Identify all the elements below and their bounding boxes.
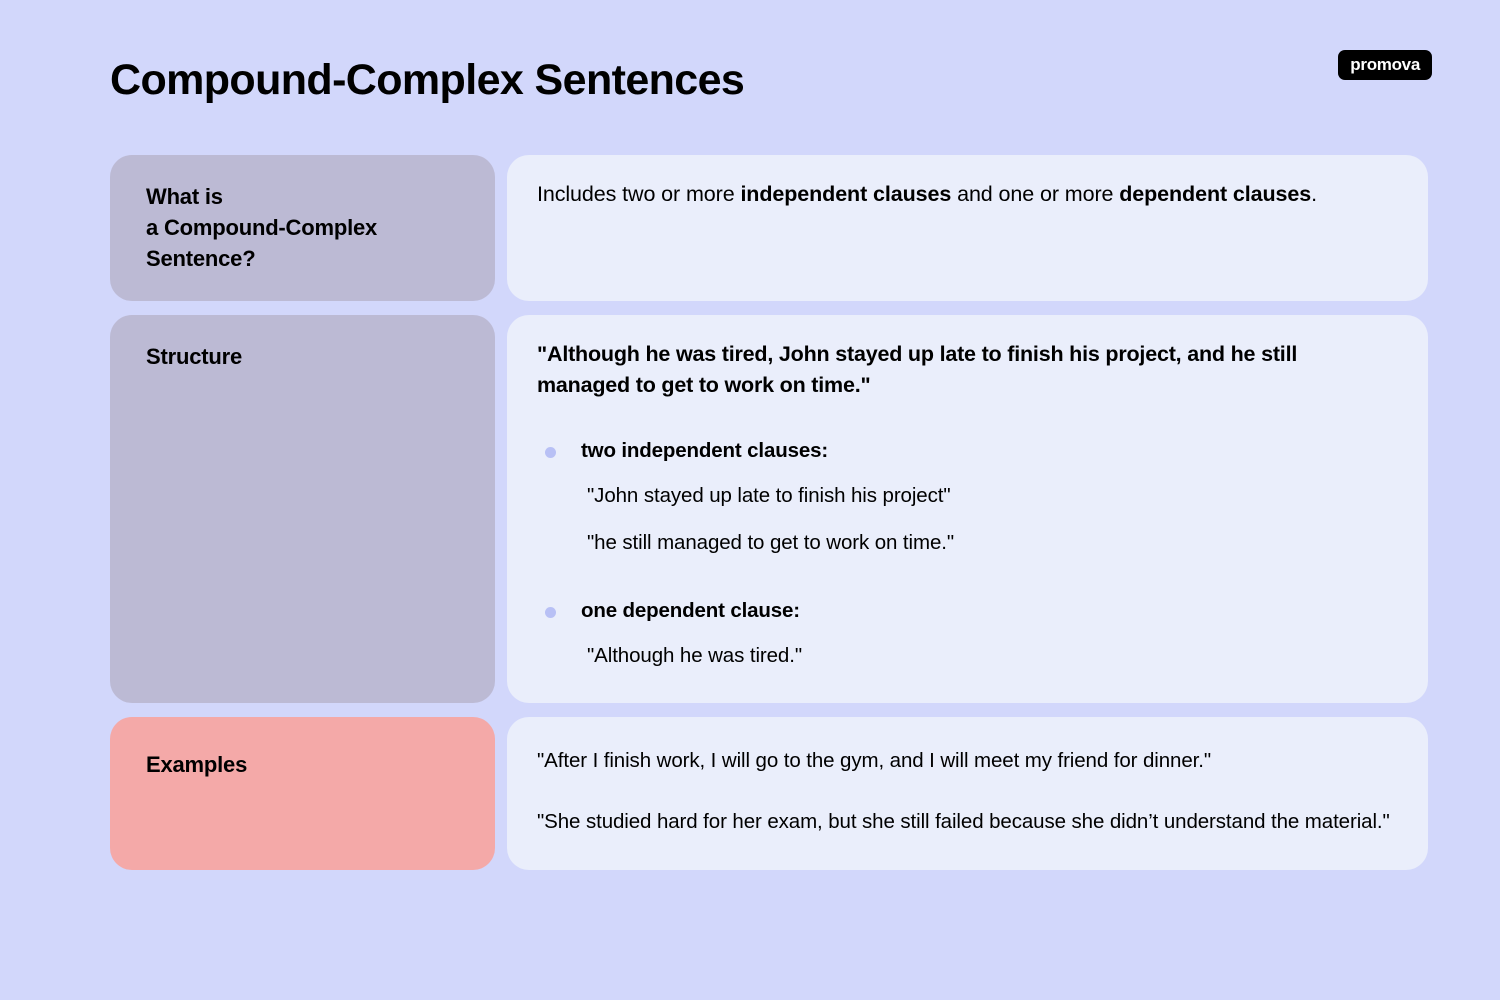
definition-text: Includes two or more independent clauses… [537, 179, 1398, 210]
row-structure: Structure "Although he was tired, John s… [110, 315, 1428, 704]
row-label-examples: Examples [110, 717, 495, 870]
structure-example-sentence: "Although he was tired, John stayed up l… [537, 339, 1377, 402]
content-rows: What is a Compound-Complex Sentence? Inc… [110, 155, 1428, 884]
definition-tail: . [1311, 182, 1317, 206]
row-examples: Examples "After I finish work, I will go… [110, 717, 1428, 870]
bullet-dot-icon [545, 447, 556, 458]
clause-heading-dependent-text: one dependent clause: [581, 599, 800, 622]
clause-item: "he still managed to get to work on time… [537, 530, 1398, 557]
clause-heading-dependent: one dependent clause: [537, 599, 1398, 623]
row-content-examples: "After I finish work, I will go to the g… [507, 717, 1428, 870]
row-label-definition: What is a Compound-Complex Sentence? [110, 155, 495, 301]
definition-lead: Includes two or more [537, 182, 740, 206]
clause-item: "Although he was tired." [537, 643, 1398, 670]
row-label-definition-text: What is a Compound-Complex Sentence? [146, 181, 495, 275]
clause-heading-independent: two independent clauses: [537, 439, 1398, 463]
row-label-examples-text: Examples [146, 749, 495, 780]
clause-item: "John stayed up late to finish his proje… [537, 483, 1398, 510]
page-title: Compound-Complex Sentences [110, 56, 744, 105]
clause-group-independent: two independent clauses: "John stayed up… [537, 439, 1398, 556]
row-content-definition: Includes two or more independent clauses… [507, 155, 1428, 301]
clause-heading-independent-text: two independent clauses: [581, 439, 828, 462]
definition-bold-independent: independent clauses [740, 182, 951, 206]
row-content-structure: "Although he was tired, John stayed up l… [507, 315, 1428, 704]
row-definition: What is a Compound-Complex Sentence? Inc… [110, 155, 1428, 301]
row-label-structure: Structure [110, 315, 495, 704]
clause-group-dependent: one dependent clause: "Although he was t… [537, 599, 1398, 670]
example-item: "She studied hard for her exam, but she … [537, 808, 1398, 836]
definition-mid: and one or more [951, 182, 1119, 206]
promova-logo: promova [1338, 50, 1432, 80]
example-item: "After I finish work, I will go to the g… [537, 747, 1398, 775]
header: Compound-Complex Sentences promova [0, 0, 1500, 150]
row-label-structure-text: Structure [146, 341, 495, 372]
definition-bold-dependent: dependent clauses [1119, 182, 1311, 206]
bullet-dot-icon [545, 607, 556, 618]
